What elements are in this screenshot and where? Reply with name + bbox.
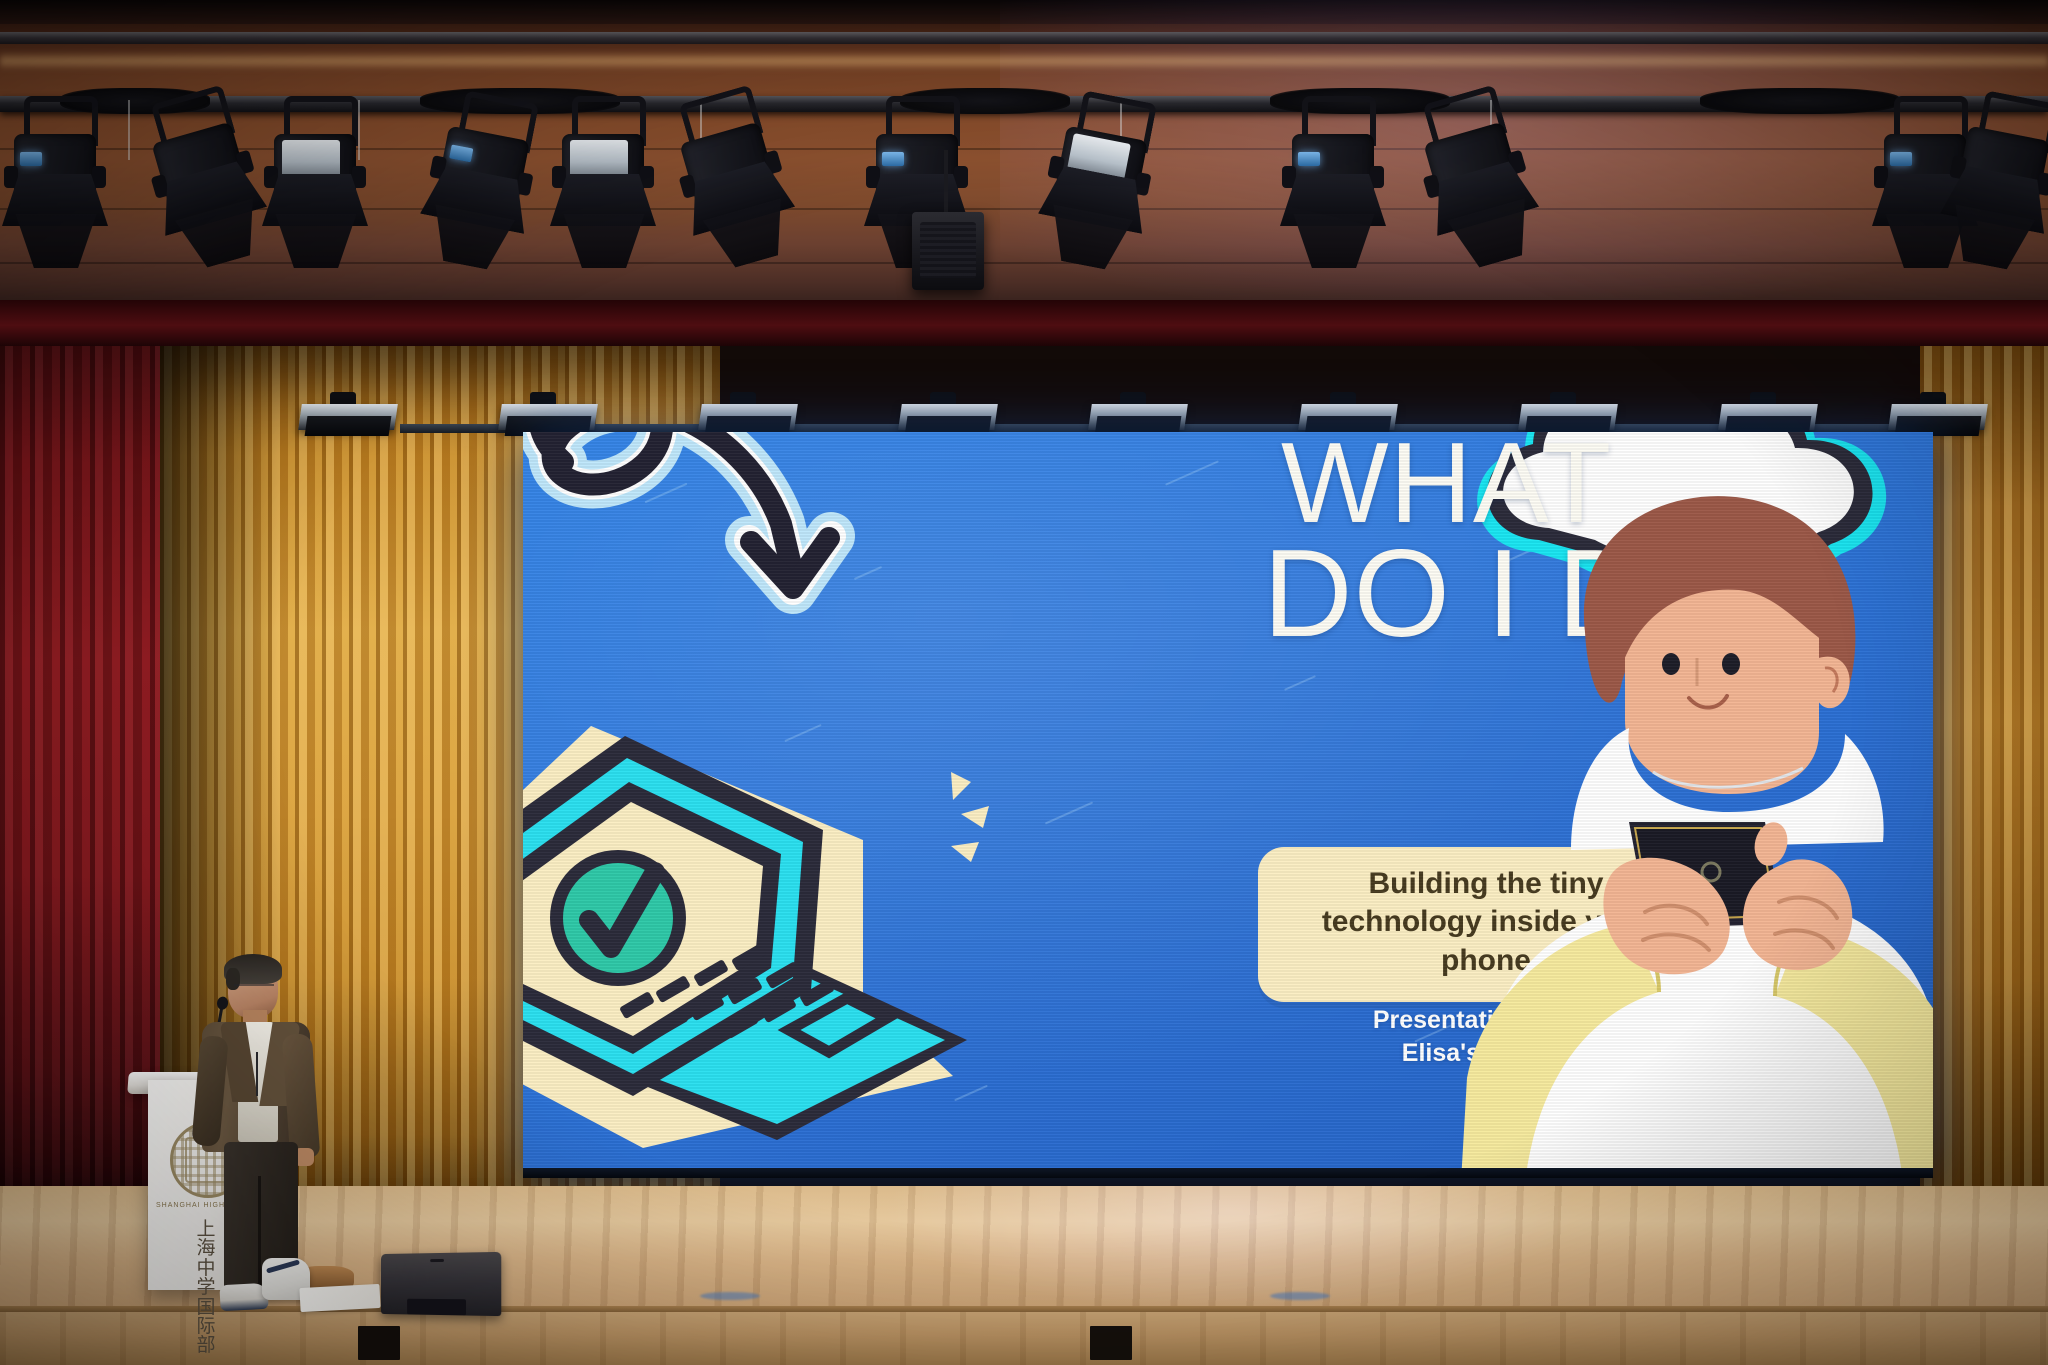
stage-light-fixture [548, 96, 658, 256]
presenter-hair [224, 954, 282, 984]
stage-light-fixture [260, 96, 370, 256]
stage-monitor-speaker [381, 1252, 501, 1316]
red-valance [0, 300, 2048, 346]
sparkle-lines [923, 762, 1043, 882]
stage-light-fixture [0, 96, 110, 256]
led-wall-wash-light [1890, 392, 1986, 432]
podium-char-7: 部 [148, 1336, 266, 1355]
presenter-lapel-mic-cable [256, 1052, 258, 1096]
stage-floor-light [700, 1292, 760, 1300]
led-wall-wash-light [500, 392, 596, 432]
flown-speaker [912, 212, 984, 290]
screen-bottom-bezel [523, 1168, 1933, 1178]
curly-arrow-doodle [523, 432, 893, 732]
led-wall-wash-light [300, 392, 396, 432]
auditorium-photo: WHAT DO I DO [0, 0, 2048, 1365]
led-wall-wash-light [700, 392, 796, 432]
presenter-leg-seam [258, 1176, 261, 1286]
presentation-screen: WHAT DO I DO [523, 432, 1933, 1172]
led-wall-wash-light [1720, 392, 1816, 432]
speaker-hang-arm [944, 150, 948, 216]
presenter-glasses [234, 984, 274, 995]
stage-light-fixture [1278, 96, 1388, 256]
led-wall-wash-light [1520, 392, 1616, 432]
upper-truss-pipe [0, 32, 2048, 44]
stage-front-panel [0, 1312, 2048, 1365]
floor-light-wash [880, 1186, 1580, 1312]
led-wall-wash-light [900, 392, 996, 432]
floor-paper-sheet [299, 1284, 380, 1312]
gold-curtain-right [1920, 334, 2048, 1194]
stage-floor-vent [1090, 1326, 1132, 1360]
stage-floor-vent [358, 1326, 400, 1360]
led-wall-wash-light [1300, 392, 1396, 432]
person-with-phone-illustration [1453, 472, 1933, 1172]
led-wall-wash-light [1090, 392, 1186, 432]
stage-floor-light [1270, 1292, 1330, 1300]
